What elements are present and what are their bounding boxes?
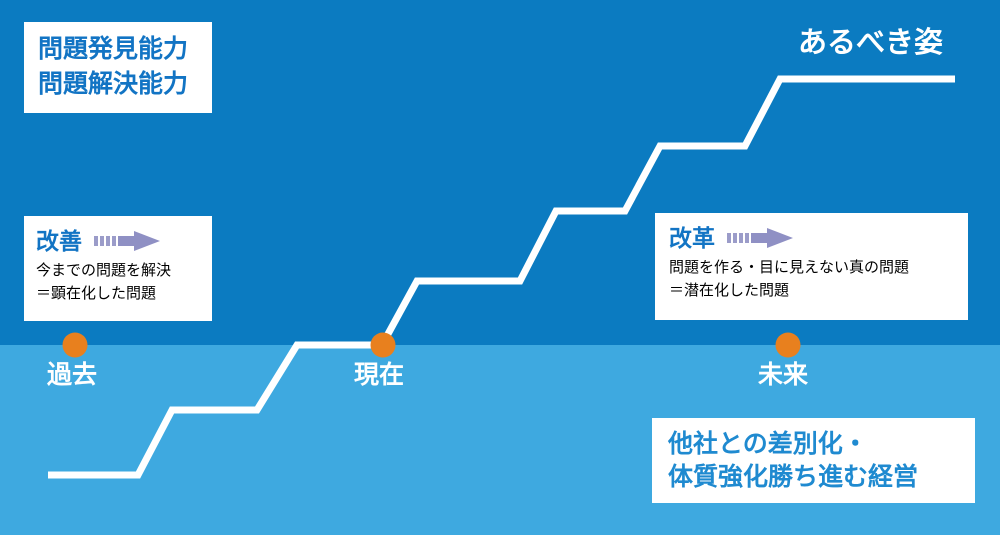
dashed-right-arrow-icon bbox=[727, 227, 795, 249]
kaizen-heading-row: 改善 bbox=[36, 224, 212, 258]
era-label-past: 過去 bbox=[47, 360, 97, 390]
marker-dot-present bbox=[371, 333, 396, 358]
kaikaku-heading-row: 改革 bbox=[669, 221, 968, 255]
differentiation-line-1: 他社との差別化・ bbox=[668, 428, 975, 461]
diagram-canvas: 問題発見能力 問題解決能力 改善 今までの問題を解決 ＝顕在化した問題 改革 bbox=[0, 0, 1000, 535]
kaizen-box: 改善 今までの問題を解決 ＝顕在化した問題 bbox=[24, 216, 212, 321]
kaikaku-body-line-1: 問題を作る・目に見えない真の問題 bbox=[669, 257, 968, 278]
kaikaku-heading: 改革 bbox=[669, 225, 715, 251]
marker-dot-past bbox=[63, 333, 88, 358]
differentiation-box: 他社との差別化・ 体質強化勝ち進む経営 bbox=[652, 418, 975, 503]
kaizen-heading: 改善 bbox=[36, 228, 82, 254]
kaizen-body-line-1: 今までの問題を解決 bbox=[36, 260, 212, 281]
kaizen-body-line-2: ＝顕在化した問題 bbox=[36, 283, 212, 304]
marker-dot-future bbox=[776, 333, 801, 358]
capability-line-1: 問題発見能力 bbox=[38, 32, 212, 67]
capability-line-2: 問題解決能力 bbox=[38, 67, 212, 102]
differentiation-line-2: 体質強化勝ち進む経営 bbox=[668, 461, 975, 494]
ideal-state-label: あるべき姿 bbox=[798, 26, 943, 60]
kaikaku-box: 改革 問題を作る・目に見えない真の問題 ＝潜在化した問題 bbox=[655, 213, 968, 320]
kaikaku-body-line-2: ＝潜在化した問題 bbox=[669, 280, 968, 301]
era-label-present: 現在 bbox=[354, 360, 404, 390]
capability-box: 問題発見能力 問題解決能力 bbox=[24, 22, 212, 113]
dashed-right-arrow-icon bbox=[94, 230, 162, 252]
era-label-future: 未来 bbox=[758, 360, 808, 390]
